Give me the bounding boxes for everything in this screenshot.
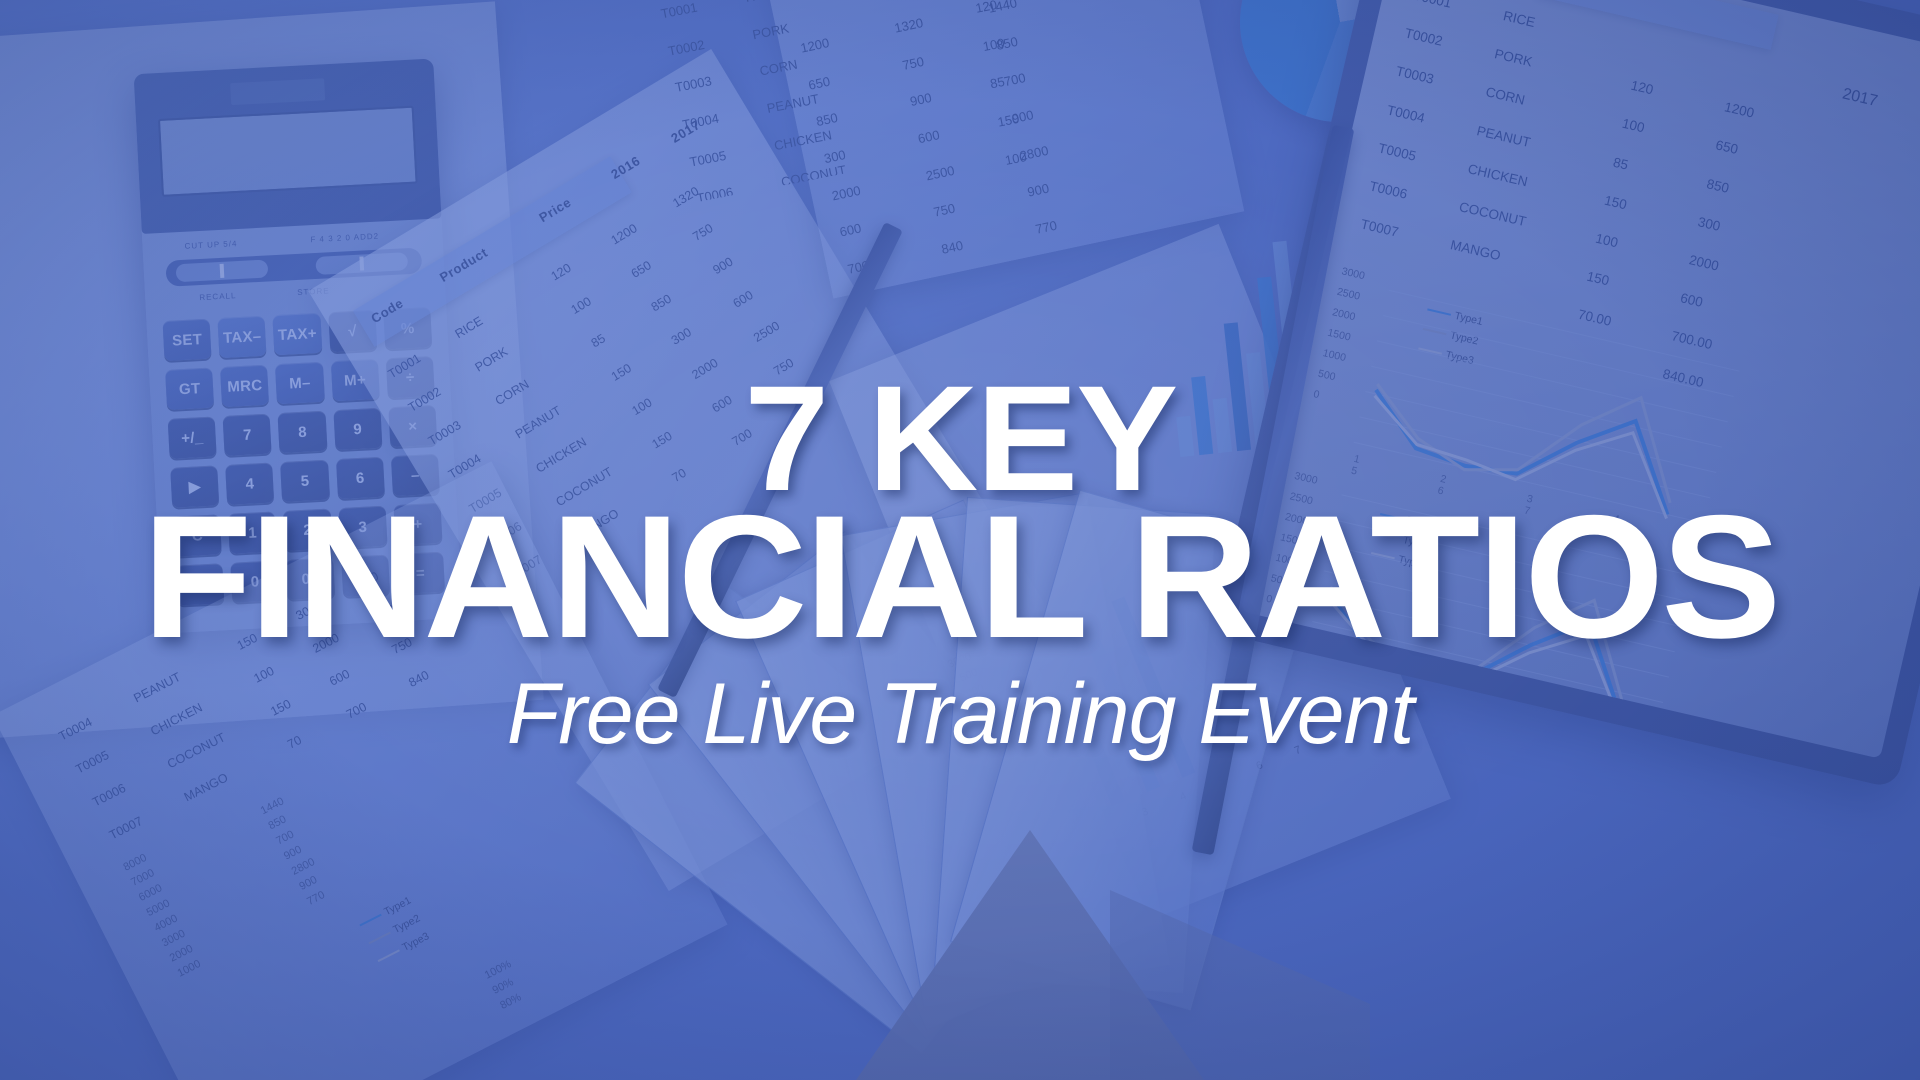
page-subtitle: Free Live Training Event bbox=[166, 671, 1755, 757]
headline-group: 7 KEY FINANCIAL RATIOS Free Live Trainin… bbox=[0, 0, 1920, 1080]
poster-canvas: CUT UP 5/4 F 4 3 2 0 ADD2 RECALL STORE S… bbox=[0, 0, 1920, 1080]
page-title-line-2: FINANCIAL RATIOS bbox=[142, 499, 1778, 657]
